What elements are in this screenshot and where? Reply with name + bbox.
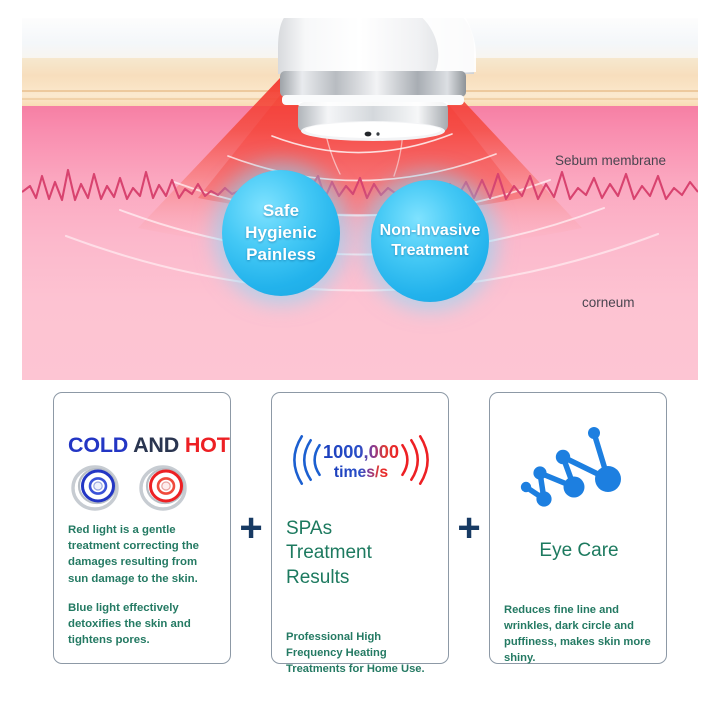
node-network-icon [508,417,650,513]
card-paragraph-spa: Professional High Frequency Heating Trea… [286,630,436,678]
plus-separator-2: + [449,392,489,664]
red-ring-icon [138,460,194,512]
card-paragraph-red-light: Red light is a gentle treatment correcti… [68,522,218,587]
feature-bubble-safe-text: Safe Hygienic Painless [245,200,317,265]
frequency-unit: times/s [334,464,389,481]
temperature-ring-icons [70,460,218,512]
feature-cards-row: COLD AND HOT [0,392,720,678]
card-heading-eye-care: Eye Care [504,539,654,563]
card-heading-spa-line2: Treatment Results [286,541,436,590]
plus-separator-1: + [231,392,271,664]
feature-bubble-safe: Safe Hygienic Painless [222,170,340,296]
label-sebum-membrane: Sebum membrane [555,153,666,168]
frequency-number: 1000,000 [323,441,399,462]
card-heading-spa: SPAs Treatment Results [286,517,436,590]
card-paragraph-blue-light: Blue light effectively detoxifies the sk… [68,600,218,649]
card-paragraph-eye-care: Reduces fine line and wrinkles, dark cir… [504,603,654,667]
feature-bubble-non-invasive: Non-Invasive Treatment [371,180,489,302]
feature-bubble-non-invasive-text: Non-Invasive Treatment [380,221,481,262]
card-title-cold-and-hot: COLD AND HOT [68,433,218,458]
blue-ring-icon [70,460,126,512]
eye-care-graphic [504,417,654,513]
product-infographic: Safe Hygienic Painless Non-Invasive Trea… [0,0,720,720]
title-word-cold: COLD [68,433,128,457]
sound-wave-frequency-icon: 1000,000 times/s [286,429,436,491]
title-word-hot: HOT [185,433,230,457]
feature-card-spa-treatment: 1000,000 times/s SPAs Treatment Results … [271,392,449,664]
skin-cross-section-illustration: Safe Hygienic Painless Non-Invasive Trea… [22,18,698,380]
frequency-graphic: 1000,000 times/s [286,429,436,491]
feature-card-eye-care: Eye Care Reduces fine line and wrinkles,… [489,392,667,664]
feature-card-cold-and-hot: COLD AND HOT [53,392,231,664]
card-heading-spa-line1: SPAs [286,517,436,541]
label-corneum: corneum [582,295,635,310]
title-word-and: AND [128,433,185,457]
device-probe-head [268,18,478,154]
